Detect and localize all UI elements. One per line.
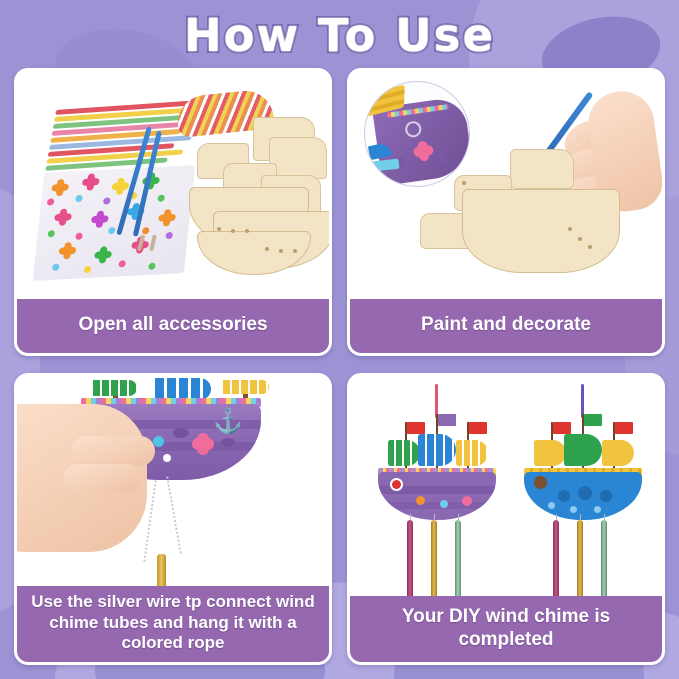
step-card-2: Paint and decorate bbox=[347, 68, 665, 356]
blue-ship-wind-chime bbox=[518, 384, 648, 596]
blue-gem bbox=[153, 436, 164, 447]
wind-chime-tube-bundle bbox=[44, 98, 199, 180]
step-2-photo bbox=[350, 71, 662, 299]
blue-hull bbox=[524, 472, 642, 520]
purple-hull bbox=[378, 472, 496, 520]
green-sail bbox=[93, 380, 137, 396]
anchor-icon: ⚓ bbox=[213, 410, 243, 434]
step-card-1: Open all accessories bbox=[14, 68, 332, 356]
closeup-inset-circle bbox=[364, 81, 470, 187]
flag-red-right bbox=[469, 422, 487, 434]
flag-red-right bbox=[615, 422, 633, 434]
sail-green bbox=[388, 440, 420, 466]
flag-purple-center bbox=[438, 414, 456, 426]
flag-green-center bbox=[584, 414, 602, 426]
steps-grid: Open all accessories bbox=[14, 68, 665, 665]
how-to-use-poster: How To Use bbox=[0, 0, 679, 679]
sail-green-center bbox=[564, 434, 602, 466]
flag-red-left bbox=[407, 422, 425, 434]
step-3-photo: ⚓ bbox=[17, 376, 329, 586]
sail-yellow-left bbox=[534, 440, 566, 466]
chime-tube-green bbox=[601, 520, 607, 596]
chime-tube-green bbox=[455, 520, 461, 596]
yellow-sail bbox=[223, 380, 269, 394]
hanging-rope-purple bbox=[435, 384, 438, 418]
gem-sticker-sheet bbox=[33, 165, 195, 281]
chime-tube-magenta bbox=[553, 520, 559, 596]
wooden-sail-piece bbox=[510, 149, 574, 189]
sail-yellow bbox=[456, 440, 488, 466]
chime-tube-gold bbox=[577, 520, 583, 596]
purple-ship-wind-chime bbox=[372, 384, 502, 596]
step-card-3: ⚓ Use the silver wire tp connect wind ch… bbox=[14, 373, 332, 665]
step-3-caption: Use the silver wire tp connect wind chim… bbox=[17, 586, 329, 662]
chime-tube-gold bbox=[431, 520, 437, 596]
step-card-4: Your DIY wind chime is completed bbox=[347, 373, 665, 665]
sail-blue bbox=[418, 434, 456, 466]
step-1-photo bbox=[17, 71, 329, 299]
step-2-caption: Paint and decorate bbox=[350, 299, 662, 353]
sail-yellow-right bbox=[602, 440, 634, 466]
page-title: How To Use bbox=[184, 9, 495, 62]
hanging-rope-blue bbox=[581, 384, 584, 418]
pink-flower-gem bbox=[195, 436, 211, 452]
step-4-photo bbox=[350, 376, 662, 596]
poster-title-area: How To Use bbox=[0, 4, 679, 66]
blue-sail bbox=[155, 378, 211, 400]
flag-red-left bbox=[553, 422, 571, 434]
gold-chime-tube bbox=[157, 554, 166, 586]
step-4-caption: Your DIY wind chime is completed bbox=[350, 596, 662, 662]
chime-tube-magenta bbox=[407, 520, 413, 596]
wooden-hull-piece bbox=[462, 189, 620, 273]
step-1-caption: Open all accessories bbox=[17, 299, 329, 353]
